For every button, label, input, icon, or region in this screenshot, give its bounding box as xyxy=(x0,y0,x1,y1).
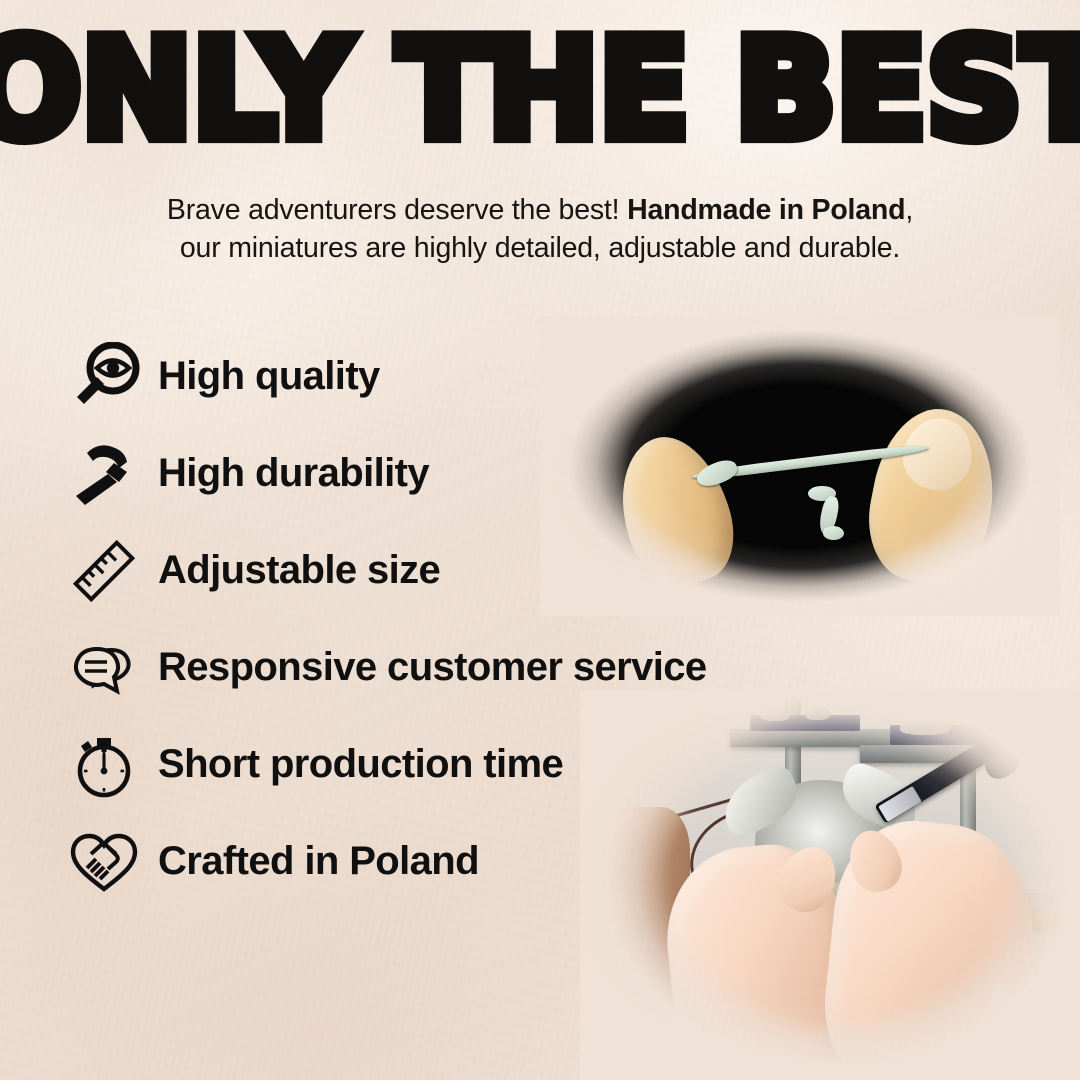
speech-bubbles-icon xyxy=(62,629,146,707)
desk-miniature xyxy=(990,986,1015,1033)
magnifier-eye-icon xyxy=(62,338,146,416)
photo-torn-cutout xyxy=(540,316,1060,616)
miniature-sprue xyxy=(900,721,950,735)
subheading-lead: Brave adventurers deserve the best! xyxy=(167,194,627,226)
feature-label: Responsive customer service xyxy=(158,645,707,690)
miniature-tip xyxy=(823,526,844,540)
feature-label: Short production time xyxy=(158,742,563,787)
miniature-sprue xyxy=(760,710,790,722)
ruler-icon xyxy=(62,532,146,610)
feature-label: Crafted in Poland xyxy=(158,839,479,884)
feature-label: High quality xyxy=(158,354,380,399)
headline-container: ONLY THE BEST xyxy=(0,34,1080,147)
feature-label: High durability xyxy=(158,451,429,496)
page-title: ONLY THE BEST xyxy=(0,27,1080,154)
photo-torn-cutout xyxy=(580,690,1080,1080)
miniature-sprue xyxy=(980,719,1040,735)
durability-demo-photo xyxy=(540,316,1060,616)
feature-label: Adjustable size xyxy=(158,548,440,593)
miniature-sprue xyxy=(805,708,830,720)
workshop-photo xyxy=(580,690,1080,1080)
heart-handshake-icon xyxy=(62,823,146,901)
subheading-line2: our miniatures are highly detailed, adju… xyxy=(180,232,900,264)
stopwatch-icon xyxy=(62,726,146,804)
promotional-poster: ONLY THE BEST Brave adventurers deserve … xyxy=(0,0,1080,1080)
subheading-comma: , xyxy=(905,194,913,226)
hammer-icon xyxy=(62,435,146,513)
subheading-highlight: Handmade in Poland xyxy=(627,194,905,226)
subheading: Brave adventurers deserve the best! Hand… xyxy=(0,192,1080,268)
